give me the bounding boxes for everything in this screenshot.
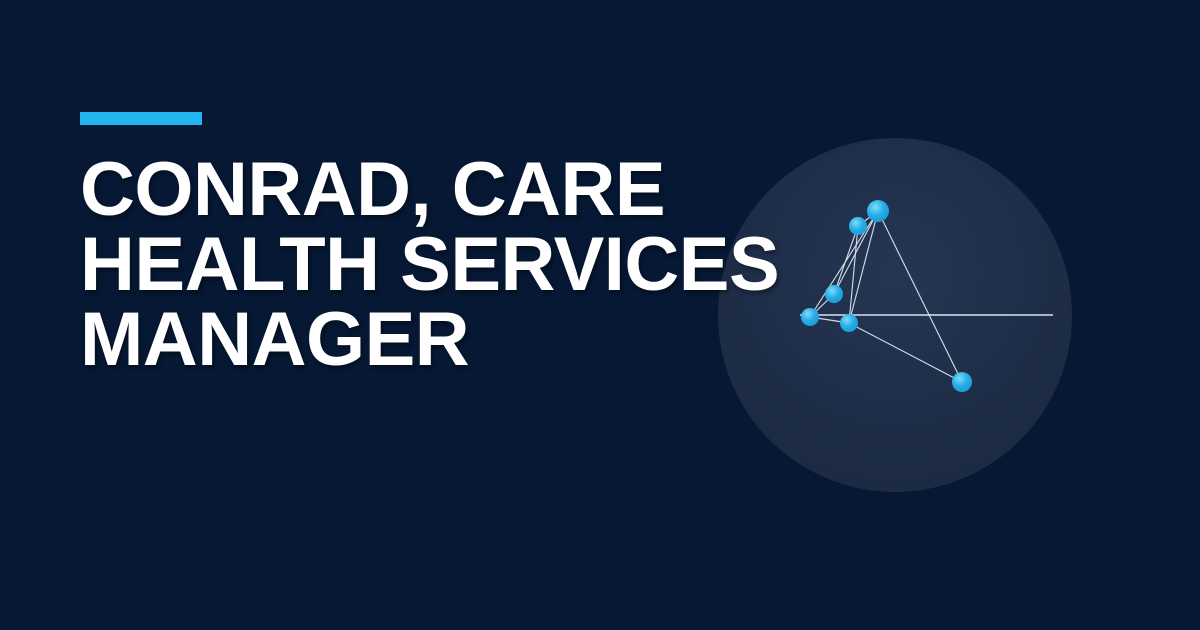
- graph-node: [849, 217, 867, 235]
- graph-edge: [810, 294, 834, 317]
- card-content: CONRAD, CARE HEALTH SERVICES MANAGER: [80, 112, 780, 378]
- graph-edge: [834, 211, 878, 294]
- graph-node: [952, 372, 972, 392]
- graph-node: [867, 200, 889, 222]
- graph-node: [825, 285, 843, 303]
- graph-edge: [849, 211, 878, 323]
- social-share-card: CONRAD, CARE HEALTH SERVICES MANAGER: [0, 0, 1200, 630]
- graph-edge: [810, 211, 878, 317]
- graph-edge: [849, 226, 858, 323]
- graph-edge: [834, 226, 858, 294]
- graph-edge: [810, 317, 849, 323]
- page-title: CONRAD, CARE HEALTH SERVICES MANAGER: [80, 152, 780, 378]
- graph-edge: [858, 211, 878, 226]
- graph-nodes: [801, 200, 972, 392]
- graph-node: [801, 308, 819, 326]
- graph-edge: [878, 211, 962, 382]
- graph-edges: [810, 211, 962, 382]
- graph-node: [840, 314, 858, 332]
- graph-edge: [849, 323, 962, 382]
- accent-bar: [80, 112, 202, 125]
